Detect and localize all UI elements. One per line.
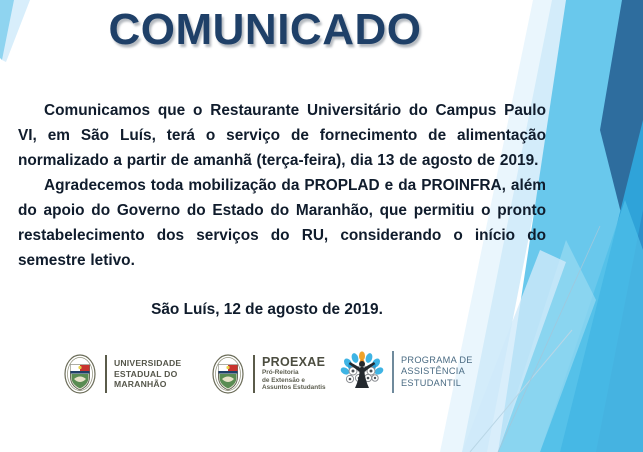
- tree-people-icon: [339, 349, 385, 395]
- uema-line-1: UNIVERSIDADE: [114, 358, 181, 369]
- proexae-sub-1: Pró-Reitoria: [262, 369, 326, 377]
- deco-bottom-light: [540, 200, 643, 452]
- assistencia-line-1: PROGRAMA DE: [401, 355, 473, 367]
- uema-crest-icon: [62, 353, 98, 395]
- assistencia-divider: [392, 351, 394, 393]
- date-line: São Luís, 12 de agosto de 2019.: [18, 301, 546, 319]
- proexae-divider: [253, 355, 255, 393]
- deco-right-steel: [600, 0, 643, 300]
- uema-divider: [105, 355, 107, 393]
- proexae-text: PROEXAE Pró-Reitoria de Extensão e Assun…: [262, 356, 326, 392]
- uema-line-3: MARANHÃO: [114, 379, 181, 390]
- logo-assistencia-estudantil: PROGRAMA DE ASSISTÊNCIA ESTUDANTIL: [339, 349, 473, 395]
- proexae-sub-3: Assuntos Estudantis: [262, 384, 326, 392]
- proexae-crest-icon: [210, 353, 246, 395]
- assistencia-line-2: ASSISTÊNCIA: [401, 366, 473, 378]
- page-title-text: COMUNICADO: [109, 8, 422, 52]
- assistencia-text: PROGRAMA DE ASSISTÊNCIA ESTUDANTIL: [401, 355, 473, 390]
- logo-proexae: PROEXAE Pró-Reitoria de Extensão e Assun…: [210, 353, 326, 395]
- uema-line-2: ESTADUAL DO: [114, 369, 181, 380]
- comunicado-slide: COMUNICADO Comunicamos que o Restaurante…: [0, 0, 643, 452]
- proexae-sub-2: de Extensão e: [262, 377, 326, 385]
- paragraph-1: Comunicamos que o Restaurante Universitá…: [18, 98, 546, 173]
- assistencia-line-3: ESTUDANTIL: [401, 378, 473, 390]
- logo-uema: UNIVERSIDADE ESTADUAL DO MARANHÃO: [62, 353, 181, 395]
- uema-text: UNIVERSIDADE ESTADUAL DO MARANHÃO: [114, 358, 181, 390]
- deco-right-steel-2: [560, 120, 643, 452]
- proexae-title: PROEXAE: [262, 356, 326, 369]
- deco-right-mid: [596, 210, 643, 452]
- paragraph-2: Agradecemos toda mobilização da PROPLAD …: [18, 173, 546, 273]
- announcement-body: Comunicamos que o Restaurante Universitá…: [18, 98, 546, 319]
- page-title: COMUNICADO: [0, 8, 530, 52]
- logo-row: UNIVERSIDADE ESTADUAL DO MARANHÃO PROEXA…: [62, 349, 502, 405]
